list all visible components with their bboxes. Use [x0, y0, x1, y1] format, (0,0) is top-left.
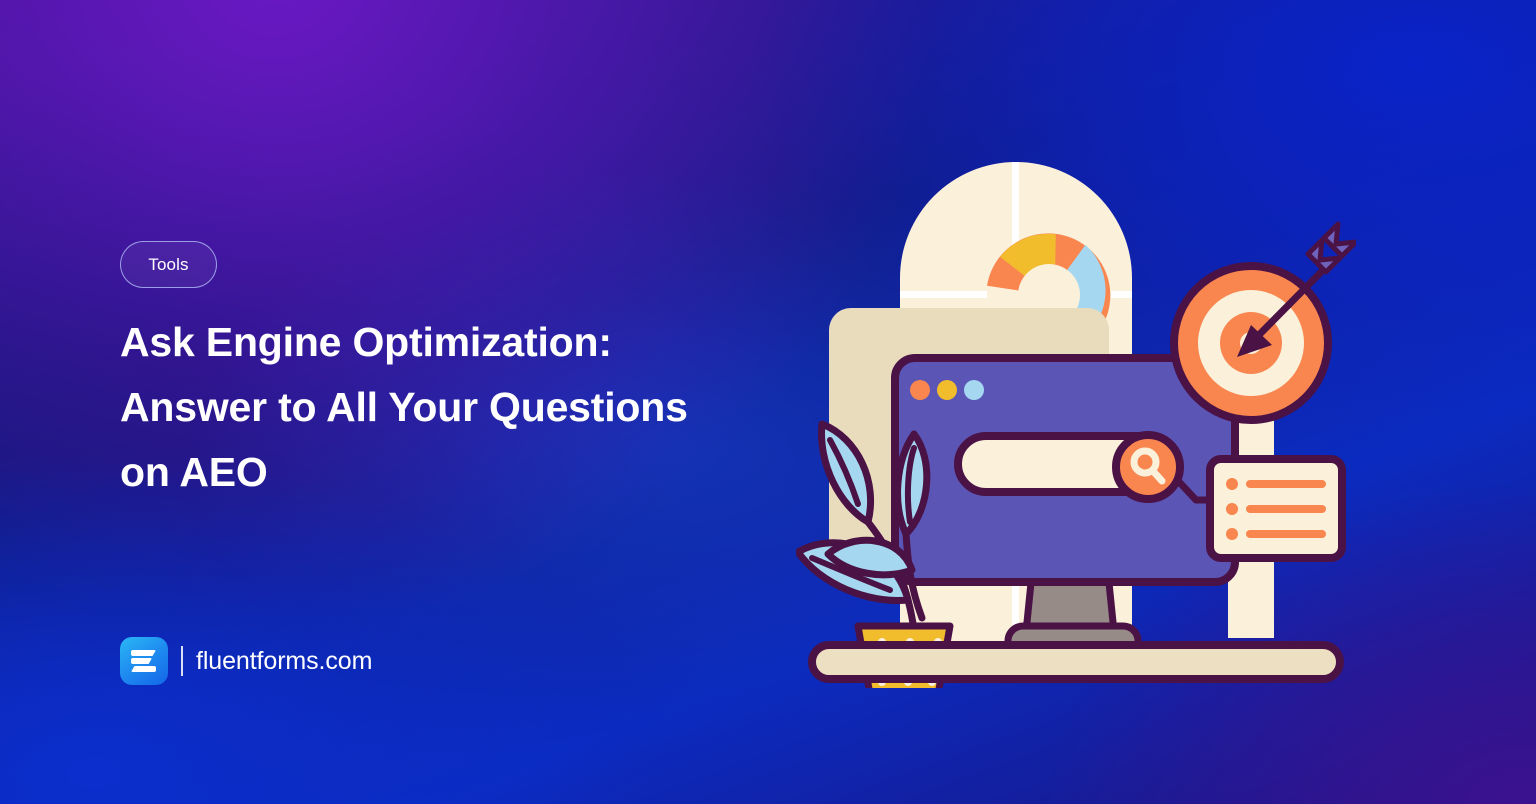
category-badge-label: Tools [148, 255, 188, 275]
page-title: Ask Engine Optimization: Answer to All Y… [120, 310, 720, 505]
fluent-forms-logo-icon [120, 637, 168, 685]
logo-bar-bottom [131, 666, 156, 672]
og-card-canvas: Tools Ask Engine Optimization: Answer to… [0, 0, 1536, 804]
brand-domain-label: fluentforms.com [196, 647, 372, 676]
search-icon-button [1116, 435, 1180, 499]
result-bullet-1 [1226, 478, 1238, 490]
result-line-1 [1246, 480, 1326, 488]
result-line-2 [1246, 505, 1326, 513]
result-bullet-2 [1226, 503, 1238, 515]
hero-illustration [796, 118, 1356, 688]
browser-window [895, 358, 1235, 582]
shelf [812, 645, 1340, 679]
category-badge-tools[interactable]: Tools [120, 241, 217, 288]
window-dot-blue [964, 380, 984, 400]
result-bullet-3 [1226, 528, 1238, 540]
brand-lockup[interactable]: fluentforms.com [120, 637, 372, 685]
logo-bar-middle [131, 658, 152, 664]
result-line-3 [1246, 530, 1326, 538]
logo-divider [181, 646, 183, 676]
results-card [1210, 459, 1342, 558]
arrow-fletching-2 [1324, 224, 1356, 256]
window-dot-red [910, 380, 930, 400]
window-dot-yellow [937, 380, 957, 400]
text-column: Tools Ask Engine Optimization: Answer to… [120, 0, 760, 804]
logo-bar-top [131, 650, 156, 656]
